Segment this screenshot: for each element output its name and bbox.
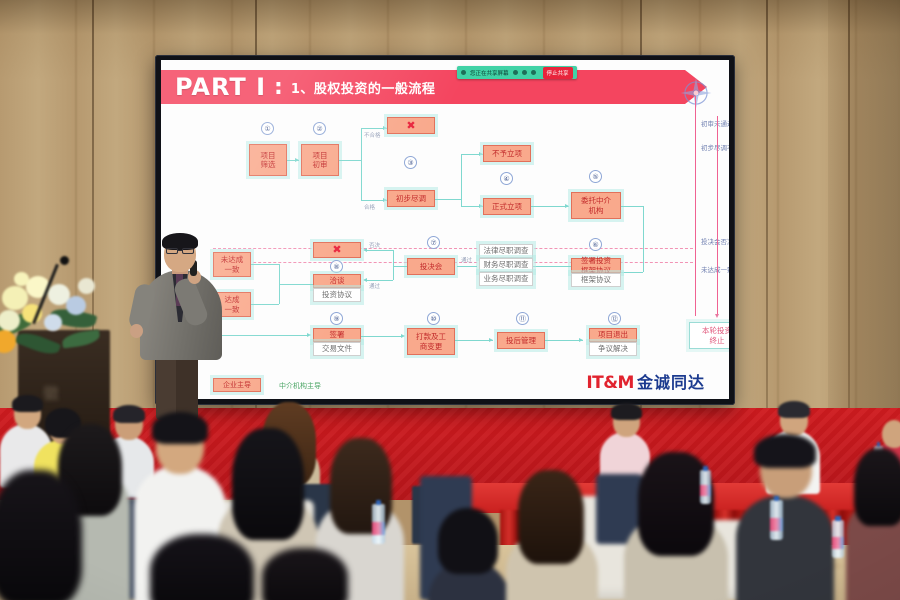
- node-sign-sub: 交易文件: [313, 342, 361, 356]
- share-title: 您正在共享屏幕: [470, 69, 509, 77]
- side-label-committee-rejected: 投决会否决: [701, 236, 729, 246]
- firm-logo-en: IT&M: [586, 373, 634, 393]
- microphone-head: [60, 256, 69, 265]
- connector: [393, 266, 407, 267]
- node-reject-mark-1: ✖: [387, 117, 435, 134]
- wall-shadow: [828, 0, 900, 470]
- water-bottle: [700, 470, 711, 504]
- arrow-icon: [565, 204, 569, 208]
- eyeglasses: [166, 248, 178, 254]
- arrow-icon: [401, 334, 405, 338]
- pause-icon[interactable]: [522, 70, 527, 75]
- water-bottle: [372, 504, 385, 544]
- connector: [531, 206, 569, 207]
- arrow-icon: [489, 338, 493, 342]
- side-label-dd-failed: 初步尽调不成立: [701, 142, 729, 152]
- node-no-project: 不予立项: [483, 145, 531, 162]
- node-financial-dd: 财务尽职调查: [479, 258, 533, 272]
- region-divider-top: [213, 248, 693, 249]
- arrow-icon: [579, 338, 583, 342]
- arrow-icon: [363, 278, 367, 282]
- connector: [361, 128, 362, 200]
- connector: [621, 206, 643, 207]
- node-engage-intermediary: 委托中介 机构: [571, 192, 621, 219]
- water-bottle: [832, 520, 844, 558]
- arrow-icon: [295, 158, 299, 162]
- arrow-down-icon: [715, 314, 719, 318]
- node-project-screening: 项目 筛选: [249, 144, 287, 176]
- connector: [457, 266, 477, 267]
- side-label-review-failed: 初审未通过: [701, 118, 729, 128]
- connector: [643, 206, 644, 272]
- share-status-icon: [461, 70, 466, 75]
- connector: [279, 284, 313, 285]
- step-number-2: ②: [313, 122, 326, 135]
- connector: [251, 264, 279, 265]
- stop-share-button[interactable]: 停止共享: [543, 67, 573, 79]
- connector: [251, 304, 279, 305]
- edge-label-committee: 通过: [461, 256, 472, 264]
- node-dispute-resolution: 争议解决: [589, 342, 637, 356]
- connector: [367, 280, 393, 281]
- step-number-5: ⑤: [589, 170, 602, 183]
- step-number-12: ⑫: [608, 312, 621, 325]
- node-negotiation-sub: 投资协议: [313, 288, 361, 302]
- conference-photo-scene: 徽 PART I : 1、股权投资的一般流程: [0, 0, 900, 600]
- region-divider-right: [695, 96, 696, 316]
- node-negotiation: 洽谈: [313, 274, 361, 288]
- step-number-10: ⑩: [427, 312, 440, 325]
- edge-label-pass: 合格: [364, 203, 375, 211]
- step-number-3: ③: [404, 156, 417, 169]
- node-investment-terminated: 本轮投资 终止: [689, 322, 729, 349]
- step-number-1: ①: [261, 122, 274, 135]
- wall-seam: [766, 0, 768, 470]
- connector: [367, 250, 393, 251]
- connector: [533, 266, 571, 267]
- legend-intermediary-led: 中介机构主导: [279, 381, 321, 391]
- water-bottle: [770, 500, 783, 540]
- connector: [393, 250, 394, 280]
- connector: [545, 340, 583, 341]
- node-business-dd: 业务尽职调查: [479, 272, 533, 286]
- step-number-4: ④: [500, 172, 513, 185]
- side-label-no-agreement: 未达成一致: [701, 264, 729, 274]
- node-payment-registration: 打款及工 商变更: [407, 328, 455, 355]
- node-sign: 签署: [313, 328, 361, 342]
- flower-arrangement: [0, 270, 122, 365]
- node-sign-framework: 签署投资 框架协议: [571, 258, 621, 273]
- termination-line: [717, 116, 718, 316]
- arrow-icon: [307, 333, 311, 337]
- firm-logo: IT&M 金诚同达: [586, 369, 705, 393]
- edge-label-approve: 通过: [369, 282, 380, 290]
- node-reject-mark-2: ✖: [313, 242, 361, 258]
- node-post-investment: 投后管理: [497, 332, 545, 349]
- node-preliminary-review: 项目 初审: [301, 144, 339, 176]
- step-number-9: ⑨: [330, 312, 343, 325]
- screen-share-toolbar[interactable]: 您正在共享屏幕 停止共享: [457, 66, 577, 79]
- more-icon[interactable]: [531, 70, 536, 75]
- step-number-6: ⑥: [589, 238, 602, 251]
- node-sign-framework-sub: 框架协议: [571, 273, 621, 287]
- annotate-icon[interactable]: [513, 70, 518, 75]
- step-number-7: ⑦: [427, 236, 440, 249]
- step-number-8: ⑧: [330, 260, 343, 273]
- node-preliminary-dd: 初步尽调: [387, 190, 435, 207]
- node-investment-committee: 投决会: [407, 258, 455, 275]
- node-formal-project: 正式立项: [483, 198, 531, 215]
- connector: [361, 336, 403, 337]
- edge-label-reject: 否决: [369, 241, 380, 249]
- connector: [461, 154, 462, 206]
- firm-logo-cn: 金诚同达: [637, 369, 705, 393]
- node-legal-dd: 法律尽职调查: [479, 244, 533, 258]
- edge-label-fail: 不合格: [364, 131, 381, 139]
- connector: [339, 160, 361, 161]
- node-project-exit: 项目退出: [589, 328, 637, 342]
- connector: [621, 272, 643, 273]
- presenter: [128, 236, 248, 416]
- connector: [455, 340, 493, 341]
- step-number-11: ⑪: [516, 312, 529, 325]
- connector: [435, 199, 461, 200]
- arrow-icon: [363, 248, 367, 252]
